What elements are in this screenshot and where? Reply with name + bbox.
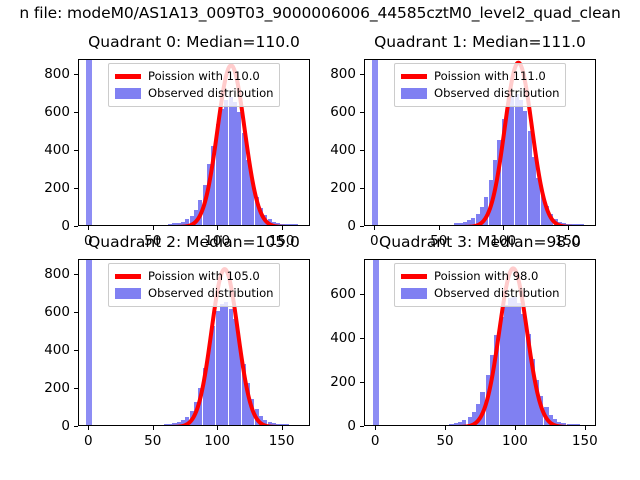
histogram-bar (198, 200, 202, 225)
x-tick-mark (568, 226, 569, 230)
x-tick-mark (217, 226, 218, 230)
histogram-bar (567, 424, 571, 425)
histogram-bar (220, 304, 224, 425)
histogram-bar (255, 197, 259, 225)
histogram-bar (484, 197, 488, 225)
x-tick-mark (217, 426, 218, 430)
y-tick-label: 0 (314, 218, 356, 234)
histogram-bar (528, 131, 532, 225)
quadrant-2-title: Quadrant 2: Median=105.0 (88, 233, 300, 251)
histogram-bar (500, 317, 504, 425)
subplot-quadrant-2: Quadrant 2: Median=105.00200400600800050… (0, 0, 640, 480)
histogram-bar (275, 424, 279, 425)
histogram-bar (454, 423, 458, 425)
y-tick-label: 400 (28, 342, 70, 358)
histogram-bar (489, 180, 493, 225)
histogram-bar (471, 218, 475, 225)
quadrant-1-title: Quadrant 1: Median=111.0 (374, 33, 586, 51)
y-tick-mark (360, 426, 364, 427)
x-tick-label: 50 (430, 233, 447, 249)
histogram-bar (259, 208, 263, 225)
quadrant-3-poisson-curve (365, 260, 595, 425)
y-tick-label: 0 (28, 218, 70, 234)
histogram-bar (532, 157, 536, 225)
histogram-bar (284, 224, 288, 225)
histogram-bar (467, 220, 471, 225)
y-tick-label: 800 (28, 66, 70, 82)
x-tick-mark (153, 226, 154, 230)
y-tick-mark (74, 150, 78, 151)
histogram-bar (275, 223, 279, 225)
histogram-bar (185, 219, 189, 225)
histogram-bar (486, 375, 490, 425)
y-tick-label: 800 (314, 66, 356, 82)
y-tick-mark (74, 312, 78, 313)
histogram-bar (224, 100, 228, 225)
histogram-bar (181, 222, 185, 225)
x-tick-mark (445, 426, 446, 430)
quadrant-3-title: Quadrant 3: Median=98.0 (379, 233, 581, 251)
quadrant-0-poisson-curve (79, 60, 309, 225)
histogram-bar (571, 424, 575, 425)
histogram-bar (570, 224, 574, 225)
x-tick-mark (88, 226, 89, 230)
histogram-bar (506, 105, 510, 226)
histogram-bar (284, 424, 288, 425)
quadrant-0-axes (78, 59, 310, 226)
y-tick-label: 600 (314, 286, 356, 302)
histogram-bar (293, 224, 297, 225)
y-tick-mark (74, 112, 78, 113)
y-tick-mark (74, 226, 78, 227)
histogram-bar (168, 224, 172, 225)
histogram-bar (172, 423, 176, 425)
histogram-bar (526, 334, 530, 425)
histogram-bar (233, 102, 237, 225)
histogram-bar (510, 97, 514, 225)
x-tick-mark (439, 226, 440, 230)
histogram-bar (246, 160, 250, 225)
legend-label-observed: Observed distribution (148, 288, 274, 300)
x-tick-label: 0 (370, 233, 379, 249)
x-tick-label: 50 (436, 433, 453, 449)
y-tick-mark (360, 338, 364, 339)
histogram-bar (246, 383, 250, 425)
histogram-bar (548, 214, 552, 225)
x-tick-mark (375, 426, 376, 430)
histogram-bar (268, 219, 272, 225)
y-tick-mark (74, 426, 78, 427)
histogram-bar (561, 423, 565, 425)
y-tick-label: 0 (314, 418, 356, 434)
histogram-bar (504, 305, 508, 425)
quadrant-0-legend: Poission with 110.0Observed distribution (108, 63, 280, 107)
x-tick-mark (153, 426, 154, 430)
histogram-bar (203, 185, 207, 225)
histogram-bar (194, 402, 198, 425)
histogram-bar (575, 424, 579, 425)
histogram-bar (539, 396, 543, 425)
histogram-bar (198, 388, 202, 425)
histogram-bar (523, 111, 527, 225)
histogram-bar (449, 424, 453, 425)
quadrant-0-title: Quadrant 0: Median=110.0 (88, 33, 300, 51)
histogram-bar (502, 119, 506, 225)
histogram-bar (535, 380, 539, 425)
histogram-bar (508, 298, 512, 425)
quadrant-2-legend: Poission with 105.0Observed distribution (108, 263, 280, 307)
histogram-bar (463, 222, 467, 225)
y-tick-label: 600 (314, 104, 356, 120)
histogram-bar (579, 224, 583, 225)
histogram-bar (545, 206, 549, 225)
histogram-bar (574, 224, 578, 225)
histogram-bar (541, 195, 545, 225)
histogram-bar (553, 419, 557, 425)
legend-entry-observed: Observed distribution (401, 85, 559, 102)
legend-entry-observed: Observed distribution (115, 285, 273, 302)
zero-bin-spike (86, 60, 92, 225)
quadrant-3-plot-area (365, 260, 595, 425)
y-tick-mark (74, 350, 78, 351)
histogram-bar (458, 422, 462, 425)
histogram-bar (480, 207, 484, 225)
quadrant-0-plot-area (79, 60, 309, 225)
quadrant-1-poisson-curve (365, 60, 595, 225)
y-tick-label: 600 (28, 104, 70, 120)
histogram-bar (490, 355, 494, 425)
legend-label-poisson: Poission with 111.0 (434, 71, 546, 83)
quadrant-1-plot-area (365, 60, 595, 225)
quadrant-2-poisson-curve (79, 260, 309, 425)
x-tick-label: 150 (269, 233, 295, 249)
y-tick-mark (74, 74, 78, 75)
y-tick-label: 600 (28, 304, 70, 320)
histogram-bar (271, 222, 275, 225)
histogram-bar (250, 179, 254, 225)
histogram-bar (530, 359, 534, 425)
histogram-bar (190, 411, 194, 425)
histogram-bar (554, 219, 558, 225)
histogram-bar (259, 416, 263, 425)
histogram-bar (237, 112, 241, 225)
histogram-bar (203, 368, 207, 425)
histogram-bar (168, 424, 172, 425)
histogram-bar (521, 314, 525, 425)
histogram-bar (229, 309, 233, 425)
x-tick-label: 150 (555, 233, 581, 249)
quadrant-1-legend: Poission with 111.0Observed distribution (394, 63, 566, 107)
histogram-bar (515, 94, 519, 225)
histogram-bar (262, 215, 266, 225)
y-tick-mark (360, 294, 364, 295)
x-tick-label: 50 (144, 433, 161, 449)
legend-entry-observed: Observed distribution (401, 285, 559, 302)
legend-entry-poisson: Poission with 110.0 (115, 68, 273, 85)
histogram-bar (566, 224, 570, 225)
y-tick-label: 800 (28, 266, 70, 282)
x-tick-label: 150 (269, 433, 295, 449)
subplot-quadrant-1: Quadrant 1: Median=111.00200400600800050… (0, 0, 640, 480)
histogram-bar (262, 420, 266, 425)
histogram-bar (216, 311, 220, 425)
histogram-bar (242, 133, 246, 225)
x-tick-label: 100 (502, 433, 528, 449)
y-tick-label: 200 (28, 380, 70, 396)
histogram-bar (164, 424, 168, 425)
histogram-bar (454, 223, 458, 225)
quadrant-3-axes (364, 259, 596, 426)
x-tick-mark (374, 226, 375, 230)
legend-line-swatch-icon (115, 274, 141, 278)
x-tick-label: 100 (490, 233, 516, 249)
subplot-quadrant-3: Quadrant 3: Median=98.002004006000501001… (0, 0, 640, 480)
histogram-bar (288, 224, 292, 225)
histogram-bar (494, 335, 498, 425)
figure-suptitle: n file: modeM0/AS1A13_009T03_9000006006_… (19, 4, 620, 22)
legend-patch-swatch-icon (115, 288, 141, 299)
histogram-bar (280, 424, 284, 425)
quadrant-2-axes (78, 259, 310, 426)
legend-line-swatch-icon (115, 74, 141, 78)
histogram-bar (242, 364, 246, 425)
histogram-bar (544, 407, 548, 425)
histogram-bar (250, 399, 254, 425)
histogram-bar (220, 109, 224, 225)
legend-label-observed: Observed distribution (434, 88, 560, 100)
x-tick-mark (88, 426, 89, 430)
y-tick-mark (74, 274, 78, 275)
histogram-bar (561, 223, 565, 225)
x-tick-mark (503, 226, 504, 230)
legend-label-observed: Observed distribution (434, 288, 560, 300)
histogram-bar (268, 422, 272, 425)
histogram-bar (472, 412, 476, 425)
legend-entry-poisson: Poission with 98.0 (401, 268, 559, 285)
histogram-bar (557, 422, 561, 425)
x-tick-mark (515, 426, 516, 430)
histogram-bar (233, 319, 237, 425)
legend-entry-observed: Observed distribution (115, 85, 273, 102)
quadrant-1-axes (364, 59, 596, 226)
y-tick-mark (74, 388, 78, 389)
legend-entry-poisson: Poission with 111.0 (401, 68, 559, 85)
x-tick-mark (585, 426, 586, 430)
histogram-bar (177, 223, 181, 225)
y-tick-label: 200 (28, 180, 70, 196)
histogram-bar (516, 303, 520, 425)
matplotlib-figure: n file: modeM0/AS1A13_009T03_9000006006_… (0, 0, 640, 480)
histogram-bar (190, 216, 194, 225)
y-tick-mark (360, 150, 364, 151)
histogram-bar (237, 339, 241, 425)
y-tick-label: 400 (314, 142, 356, 158)
y-tick-label: 400 (28, 142, 70, 158)
x-tick-label: 0 (84, 433, 93, 449)
legend-line-swatch-icon (401, 274, 427, 278)
x-tick-mark (282, 426, 283, 430)
y-tick-label: 200 (314, 180, 356, 196)
histogram-bar (476, 404, 480, 425)
histogram-bar (271, 423, 275, 425)
x-tick-label: 0 (84, 233, 93, 249)
histogram-bar (216, 124, 220, 225)
legend-label-poisson: Poission with 105.0 (148, 271, 260, 283)
x-tick-label: 0 (371, 433, 380, 449)
legend-patch-swatch-icon (115, 88, 141, 99)
quadrant-3-legend: Poission with 98.0Observed distribution (394, 263, 566, 307)
histogram-bar (194, 210, 198, 225)
histogram-bar (557, 222, 561, 225)
x-tick-label: 50 (144, 233, 161, 249)
x-tick-label: 100 (204, 233, 230, 249)
y-tick-label: 0 (28, 418, 70, 434)
x-tick-mark (282, 226, 283, 230)
legend-label-observed: Observed distribution (148, 88, 274, 100)
histogram-bar (536, 178, 540, 225)
y-tick-label: 200 (314, 374, 356, 390)
histogram-bar (468, 417, 472, 425)
y-tick-mark (360, 188, 364, 189)
y-tick-mark (360, 112, 364, 113)
subplot-quadrant-0: Quadrant 0: Median=110.00200400600800050… (0, 0, 640, 480)
histogram-bar (493, 160, 497, 225)
zero-bin-spike (372, 60, 378, 225)
x-tick-label: 100 (204, 433, 230, 449)
legend-patch-swatch-icon (401, 88, 427, 99)
legend-line-swatch-icon (401, 74, 427, 78)
histogram-bar (211, 326, 215, 425)
histogram-bar (280, 224, 284, 225)
y-tick-mark (74, 188, 78, 189)
legend-patch-swatch-icon (401, 288, 427, 299)
histogram-bar (458, 223, 462, 225)
histogram-bar (224, 302, 228, 425)
legend-entry-poisson: Poission with 105.0 (115, 268, 273, 285)
legend-label-poisson: Poission with 110.0 (148, 71, 260, 83)
histogram-bar (211, 146, 215, 225)
histogram-bar (512, 297, 516, 425)
histogram-bar (462, 420, 466, 425)
histogram-bar (181, 420, 185, 425)
histogram-bar (255, 409, 259, 425)
histogram-bar (480, 392, 484, 425)
histogram-bar (185, 417, 189, 425)
legend-label-poisson: Poission with 98.0 (434, 271, 538, 283)
y-tick-label: 400 (314, 330, 356, 346)
histogram-bar (172, 223, 176, 225)
zero-bin-spike (86, 260, 92, 425)
histogram-bar (549, 415, 553, 425)
y-tick-mark (360, 226, 364, 227)
histogram-bar (207, 349, 211, 425)
histogram-bar (177, 422, 181, 425)
zero-bin-spike (373, 260, 379, 425)
y-tick-mark (360, 382, 364, 383)
y-tick-mark (360, 74, 364, 75)
histogram-bar (207, 164, 211, 225)
histogram-bar (476, 214, 480, 225)
histogram-bar (229, 97, 233, 225)
x-tick-label: 150 (572, 433, 598, 449)
histogram-bar (519, 100, 523, 225)
histogram-bar (497, 140, 501, 225)
quadrant-2-plot-area (79, 260, 309, 425)
